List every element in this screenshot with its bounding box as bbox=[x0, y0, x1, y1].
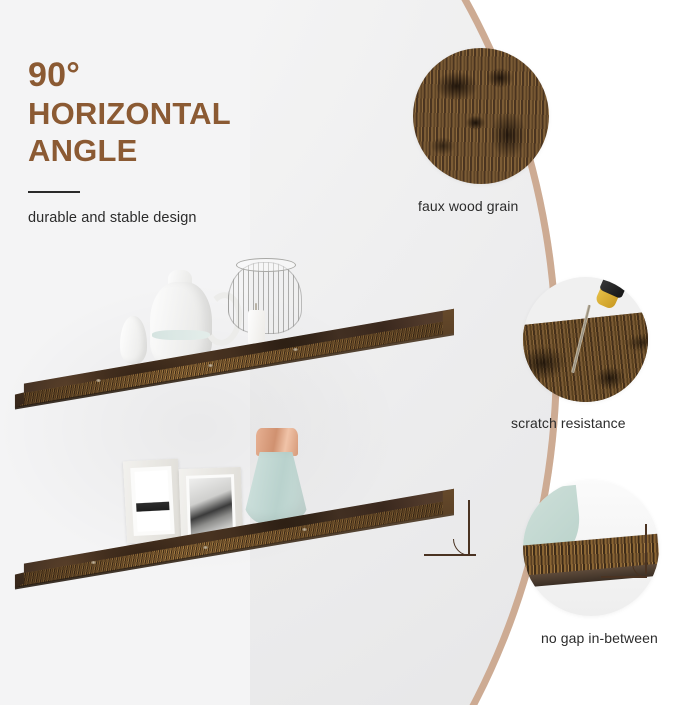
no-gap-image bbox=[523, 480, 659, 616]
feature-scratch-resistance: scratch resistance bbox=[523, 277, 648, 402]
product-feature-image: 90° HORIZONTAL ANGLE durable and stable … bbox=[0, 0, 679, 705]
shelf-body bbox=[6, 300, 454, 410]
shelf-body bbox=[6, 480, 454, 590]
right-angle-marker bbox=[424, 500, 476, 560]
headline-line-2: ANGLE bbox=[28, 132, 358, 169]
headline-degree: 90° bbox=[28, 55, 358, 95]
wire-basket-rim bbox=[236, 258, 296, 272]
feature-faux-wood-grain: faux wood grain bbox=[413, 48, 549, 184]
feature-no-gap-in-between: no gap in-between bbox=[523, 480, 659, 616]
scratch-resistance-image bbox=[523, 277, 648, 402]
floating-shelf-bottom bbox=[6, 480, 454, 590]
headline-divider bbox=[28, 191, 80, 193]
faux-wood-grain-image bbox=[413, 48, 549, 184]
headline-block: 90° HORIZONTAL ANGLE durable and stable … bbox=[28, 55, 358, 226]
shelf-screw bbox=[96, 379, 101, 382]
shelf-screw bbox=[208, 364, 213, 367]
feature-caption: scratch resistance bbox=[511, 415, 626, 431]
feature-caption: no gap in-between bbox=[541, 630, 658, 646]
copper-vase-top bbox=[256, 428, 298, 456]
headline-subtitle: durable and stable design bbox=[28, 210, 358, 226]
headline-line-1: HORIZONTAL bbox=[28, 95, 358, 132]
floating-shelf-top bbox=[6, 300, 454, 410]
feature-caption: faux wood grain bbox=[418, 198, 518, 214]
